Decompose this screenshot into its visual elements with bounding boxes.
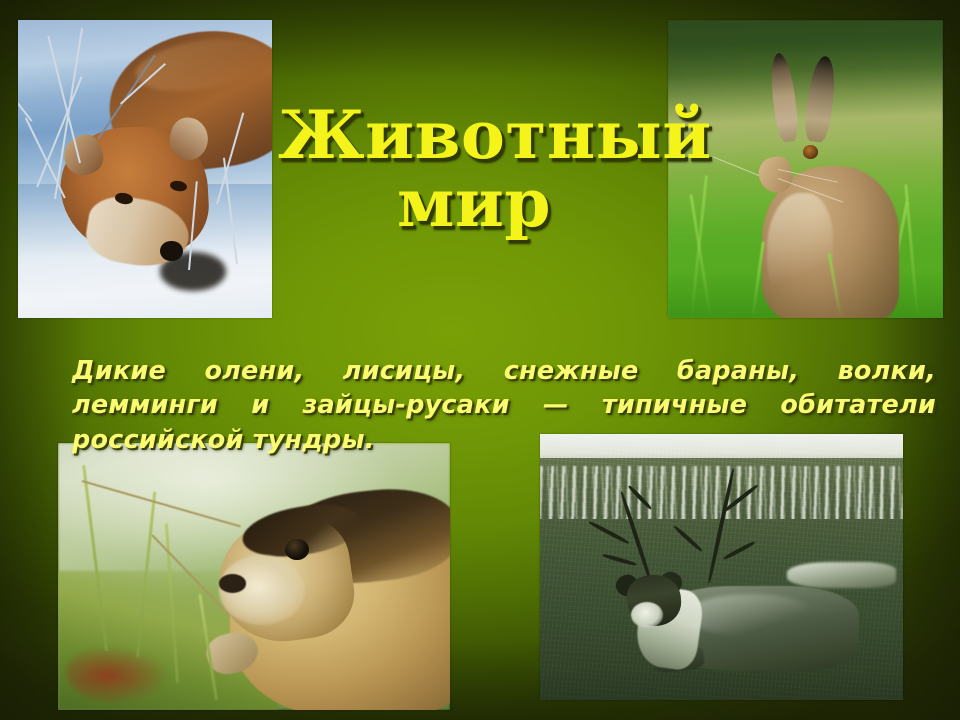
background-deer	[787, 562, 896, 589]
slide-canvas: Животный мир Дикие олени, лисицы, снежны…	[0, 0, 960, 720]
photo-reindeer	[540, 434, 903, 700]
hare-chest	[767, 193, 833, 306]
fox-scene	[18, 20, 272, 318]
slide-title: Животный мир	[278, 102, 670, 237]
photo-fox	[18, 20, 272, 318]
lemming-nose	[219, 574, 246, 593]
hare-eye	[803, 145, 818, 159]
photo-lemming	[58, 443, 450, 710]
reindeer-flank-highlight	[685, 594, 816, 637]
slide-body-text: Дикие олени, лисицы, снежные бараны, вол…	[72, 354, 936, 458]
lemming-scene	[58, 443, 450, 710]
reindeer-scene	[540, 434, 903, 700]
